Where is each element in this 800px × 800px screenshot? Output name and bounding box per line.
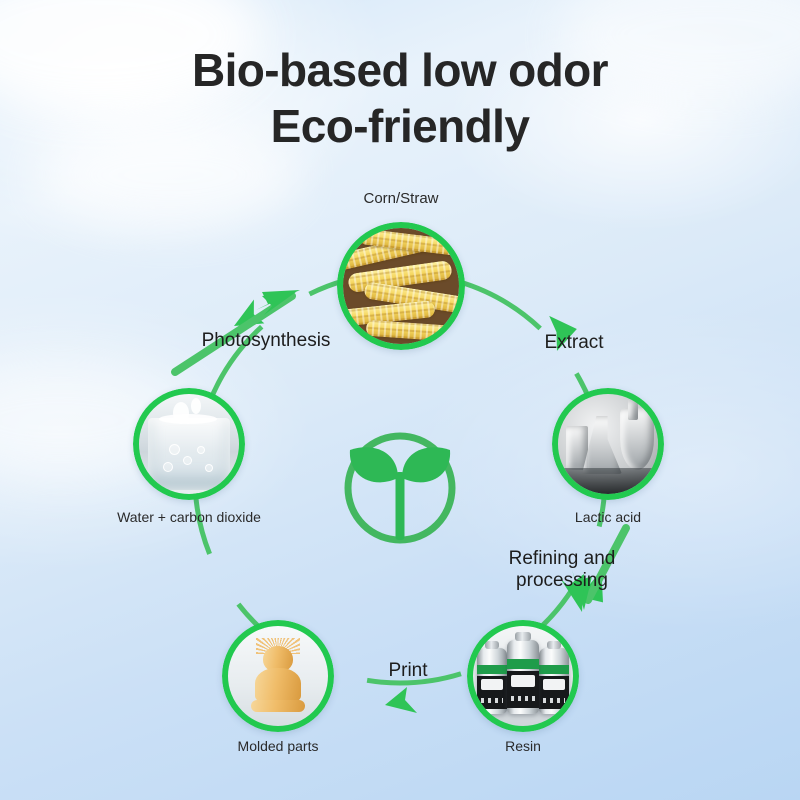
refining-line-1: Refining and bbox=[509, 548, 616, 569]
cycle-step-refining-label: Refining and processing bbox=[482, 548, 642, 593]
cycle-node-lactic-label: Lactic acid bbox=[538, 509, 678, 526]
cycle-node-water-label: Water + carbon dioxide bbox=[99, 509, 279, 526]
cycle-step-photosynthesis-label: Photosynthesis bbox=[178, 330, 354, 352]
node-ring bbox=[467, 620, 579, 732]
cycle-node-corn[interactable] bbox=[337, 222, 465, 350]
node-ring bbox=[222, 620, 334, 732]
cycle-step-extract-label: Extract bbox=[510, 332, 638, 354]
cycle-node-water[interactable] bbox=[133, 388, 245, 500]
node-ring bbox=[337, 222, 465, 350]
node-ring bbox=[552, 388, 664, 500]
cycle-node-corn-label: Corn/Straw bbox=[321, 190, 481, 208]
node-ring bbox=[133, 388, 245, 500]
cycle-step-print-label: Print bbox=[352, 660, 464, 682]
cycle-node-molded[interactable] bbox=[222, 620, 334, 732]
sprout-in-circle-logo bbox=[338, 424, 462, 548]
poster-canvas: Bio-based low odor Eco-friendly bbox=[0, 0, 800, 800]
cycle-node-resin-label: Resin bbox=[453, 738, 593, 755]
cycle-node-molded-label: Molded parts bbox=[208, 738, 348, 755]
cycle-node-resin[interactable] bbox=[467, 620, 579, 732]
refining-line-2: processing bbox=[516, 570, 608, 591]
cycle-node-lactic[interactable] bbox=[552, 388, 664, 500]
